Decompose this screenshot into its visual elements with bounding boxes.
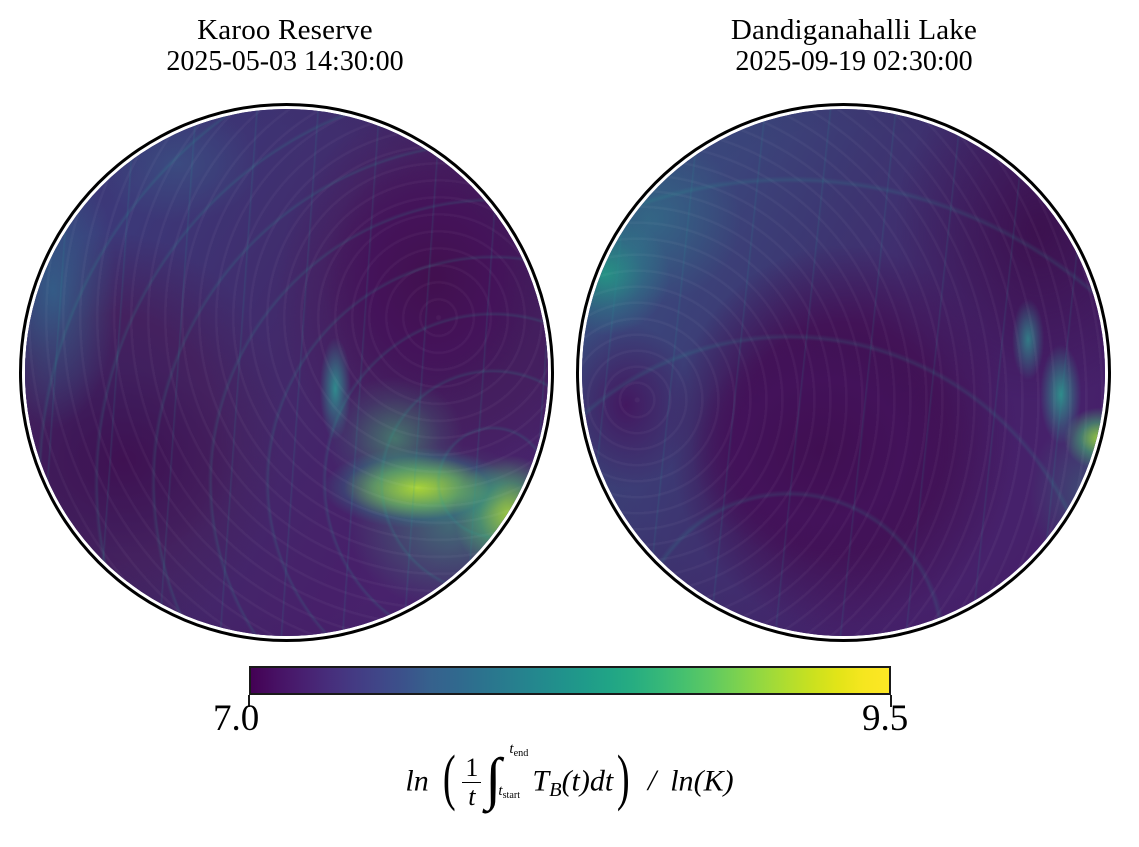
- sky-map-right: [576, 103, 1111, 642]
- colorbar-tick-min: 7.0: [213, 700, 259, 737]
- timestamp-left: 2025-05-03 14:30:00: [0, 46, 570, 77]
- integral-operator: ∫tendtstart: [485, 769, 531, 799]
- brightness-temperature-subscript: B: [549, 779, 561, 801]
- site-name-right: Dandiganahalli Lake: [569, 14, 1139, 46]
- one-over-t-fraction: 1t: [462, 754, 481, 811]
- ln-inner: ln: [670, 764, 693, 797]
- sky-disk-left: [25, 109, 548, 636]
- fraction-denominator: t: [462, 782, 481, 811]
- colorbar-axis-label: ln(1t∫tendtstartTB(t)dt)/ln(K): [0, 755, 1139, 812]
- integral-lower-limit: tstart: [498, 784, 520, 801]
- brightness-temperature-symbol: T: [532, 764, 549, 797]
- panel-title-right: Dandiganahalli Lake 2025-09-19 02:30:00: [569, 14, 1139, 78]
- panel-title-left: Karoo Reserve 2025-05-03 14:30:00: [0, 14, 570, 78]
- integral-upper-limit: tend: [509, 742, 528, 759]
- sky-disk-right: [582, 109, 1105, 636]
- site-name-left: Karoo Reserve: [0, 14, 570, 46]
- division-slash-icon: /: [648, 764, 656, 798]
- kelvin-unit-symbol: K: [704, 764, 724, 797]
- fraction-numerator: 1: [462, 754, 481, 782]
- colorbar: [249, 666, 891, 695]
- sky-map-left: [19, 103, 554, 642]
- figure-canvas: Karoo Reserve 2025-05-03 14:30:00 Dandig…: [0, 0, 1139, 847]
- integrand-argument: (t)dt: [562, 764, 614, 797]
- colorbar-tick-max: 9.5: [862, 700, 908, 737]
- sky-vignette-right: [582, 109, 1105, 636]
- lower-limit-subscript: start: [503, 789, 521, 800]
- ln-outer: ln: [405, 764, 428, 797]
- unit-close-paren: ): [724, 764, 734, 797]
- sky-vignette-left: [25, 109, 548, 636]
- upper-limit-subscript: end: [514, 747, 529, 758]
- colorbar-gradient: [249, 666, 891, 695]
- timestamp-right: 2025-09-19 02:30:00: [569, 46, 1139, 77]
- unit-open-paren: (: [694, 764, 704, 797]
